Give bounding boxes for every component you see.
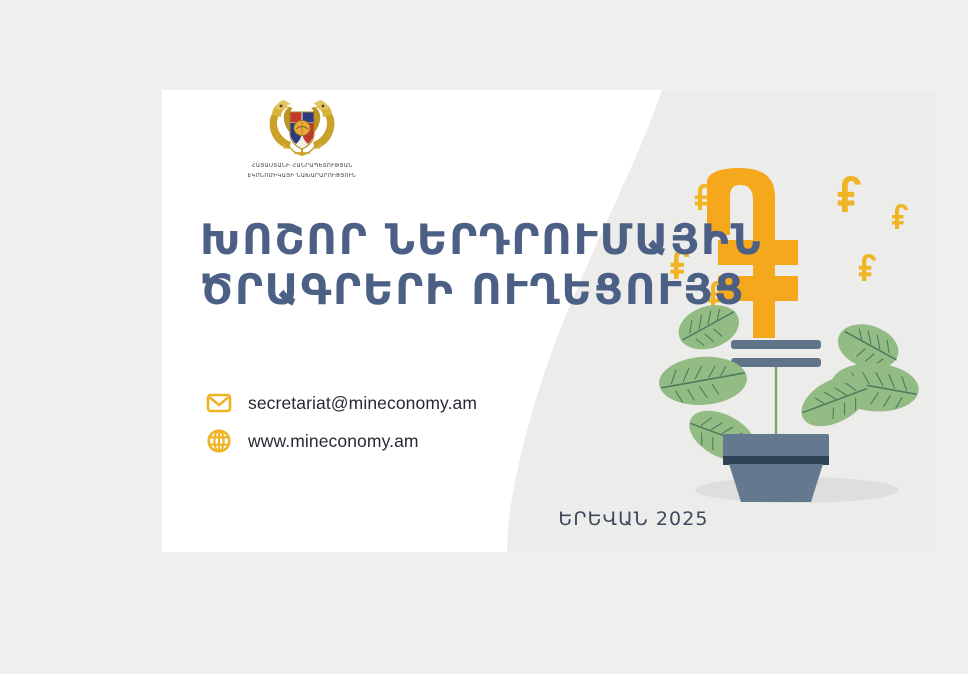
contact-website-text: www.mineconomy.am — [248, 431, 419, 452]
footer: ԵՐԵՎԱՆ 2025 — [162, 508, 935, 530]
ministry-branding: ՀԱՅԱՍՏԱՆԻ ՀԱՆՐԱՊԵՏՈՒԹՅԱՆ ԷԿՈՆՈՄԻԿԱՅԻ ՆԱԽ… — [202, 98, 402, 181]
contact-website-row[interactable]: www.mineconomy.am — [206, 423, 477, 459]
contact-email-row[interactable]: secretariat@mineconomy.am — [206, 385, 477, 421]
title-line-1: ԽՈՇՈՐ ՆԵՐԴՐՈՒՄԱՅԻՆ — [200, 215, 763, 265]
seed-plates — [731, 340, 821, 367]
globe-icon — [206, 428, 232, 454]
contact-email-text: secretariat@mineconomy.am — [248, 393, 477, 414]
armenia-coat-of-arms-icon — [266, 98, 338, 160]
title-line-2: ԾՐԱԳՐԵՐԻ ՈՒՂԵՑՈՒՅՑ — [200, 265, 763, 315]
city-year-label: ԵՐԵՎԱՆ 2025 — [388, 508, 708, 530]
contact-list: secretariat@mineconomy.am www.mineconomy… — [206, 385, 477, 461]
ministry-name-line-1: ՀԱՅԱՍՏԱՆԻ ՀԱՆՐԱՊԵՏՈՒԹՅԱՆ — [202, 162, 402, 170]
envelope-icon — [206, 390, 232, 416]
title-slide: ՀԱՅԱՍՏԱՆԻ ՀԱՆՐԱՊԵՏՈՒԹՅԱՆ ԷԿՈՆՈՄԻԿԱՅԻ ՆԱԽ… — [162, 90, 935, 552]
plant-pot — [723, 434, 829, 502]
ministry-name-line-2: ԷԿՈՆՈՄԻԿԱՅԻ ՆԱԽԱՐԱՐՈՒԹՅՈՒՆ — [202, 172, 402, 180]
page-title: ԽՈՇՈՐ ՆԵՐԴՐՈՒՄԱՅԻՆ ԾՐԱԳՐԵՐԻ ՈՒՂԵՑՈՒՅՑ — [200, 215, 763, 315]
